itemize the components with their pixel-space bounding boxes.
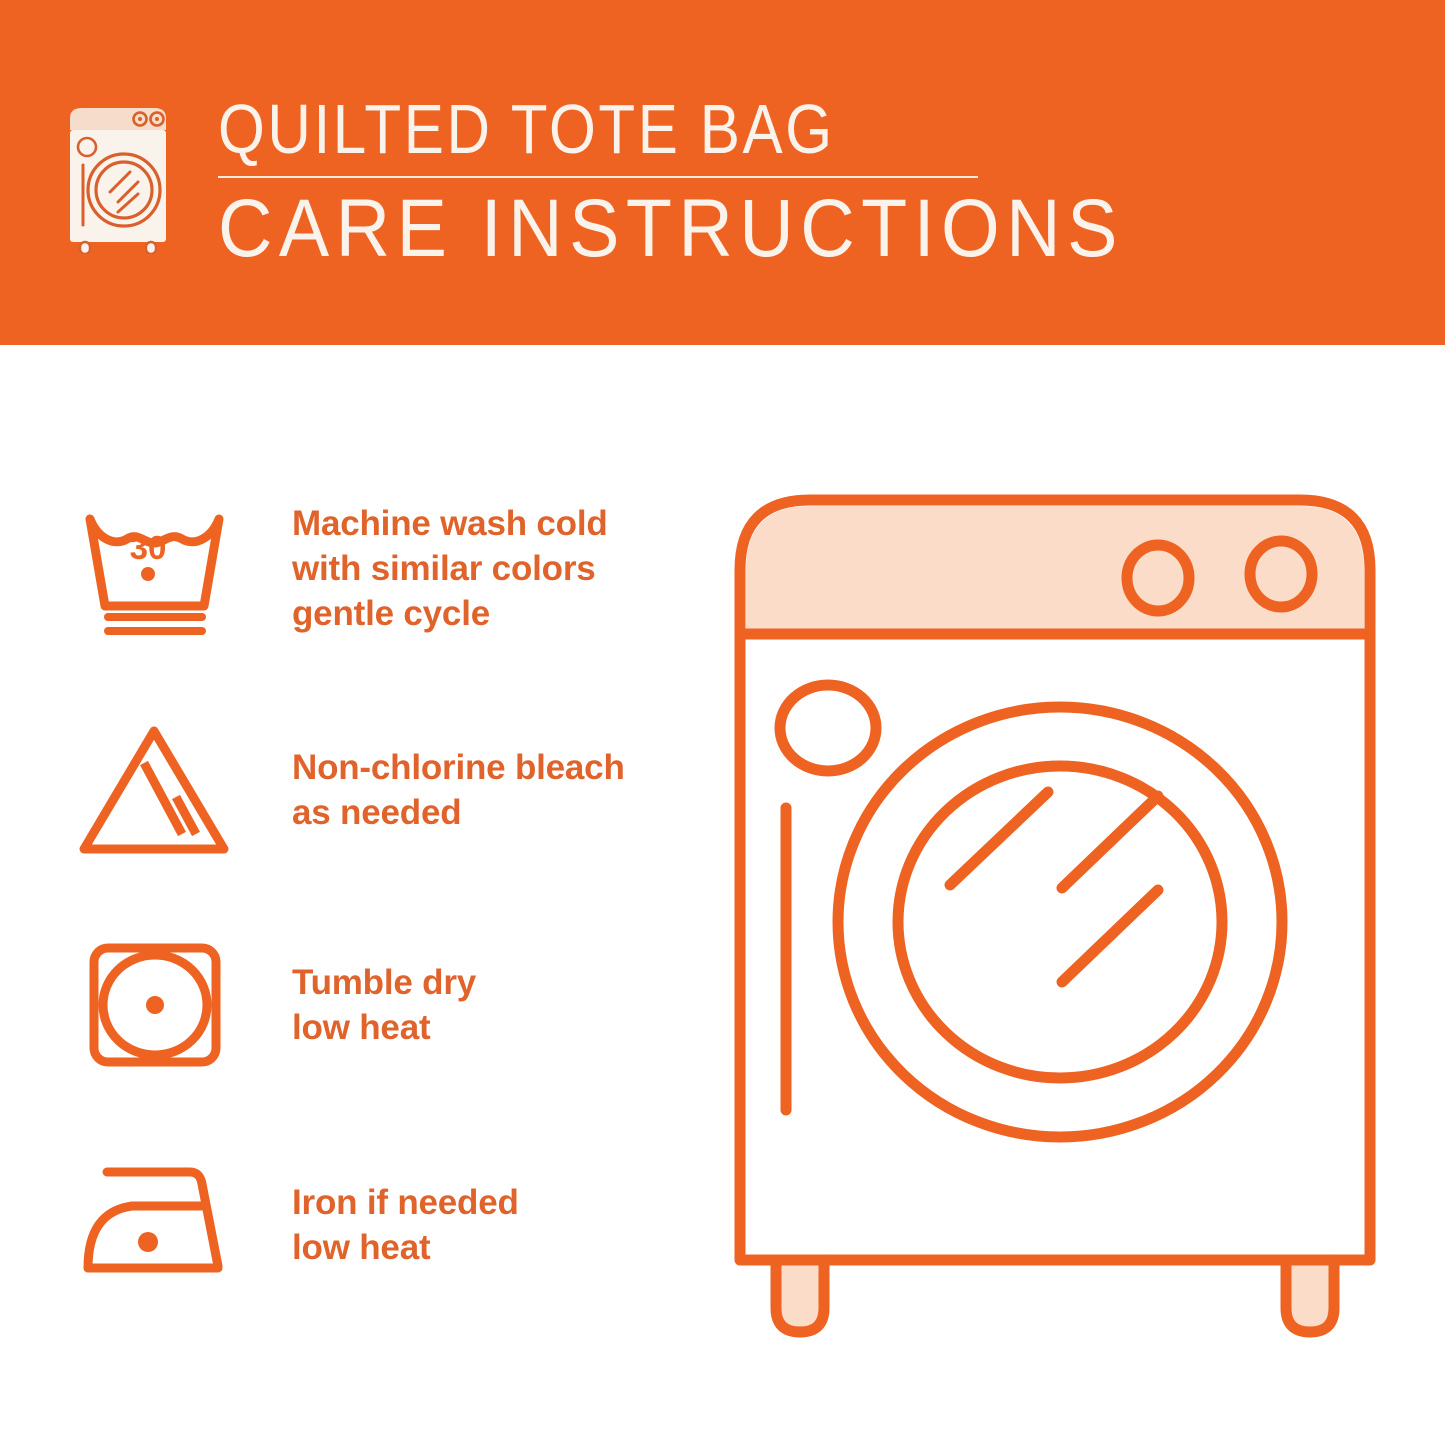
- header-banner: QUILTED TOTE BAG CARE INSTRUCTIONS: [0, 0, 1445, 345]
- front-load-washing-machine-illustration: [710, 470, 1400, 1360]
- care-label-machine-wash: Machine wash cold with similar colors ge…: [292, 501, 608, 636]
- care-label-iron: Iron if needed low heat: [292, 1180, 519, 1270]
- tumble-dry-low-icon: [72, 930, 237, 1080]
- title-divider: [218, 176, 978, 178]
- svg-text:30: 30: [130, 529, 167, 566]
- care-row-tumble-dry: Tumble dry low heat: [72, 930, 692, 1080]
- page-subtitle: CARE INSTRUCTIONS: [218, 186, 1124, 272]
- care-row-bleach: Non-chlorine bleach as needed: [72, 715, 692, 865]
- header-content: QUILTED TOTE BAG CARE INSTRUCTIONS: [62, 92, 1203, 272]
- care-row-machine-wash: 30 Machine wash cold with similar colors…: [72, 493, 692, 643]
- iron-low-heat-icon: [72, 1150, 237, 1300]
- page-title: QUILTED TOTE BAG: [218, 92, 835, 166]
- care-row-iron: Iron if needed low heat: [72, 1150, 692, 1300]
- care-instruction-list: 30 Machine wash cold with similar colors…: [0, 345, 700, 1445]
- washing-machine-icon: [62, 98, 180, 254]
- care-label-bleach: Non-chlorine bleach as needed: [292, 745, 625, 835]
- wash-tub-30-gentle-icon: 30: [72, 493, 237, 643]
- header-title-block: QUILTED TOTE BAG CARE INSTRUCTIONS: [218, 92, 1203, 272]
- care-label-tumble-dry: Tumble dry low heat: [292, 960, 476, 1050]
- non-chlorine-bleach-triangle-icon: [72, 715, 237, 865]
